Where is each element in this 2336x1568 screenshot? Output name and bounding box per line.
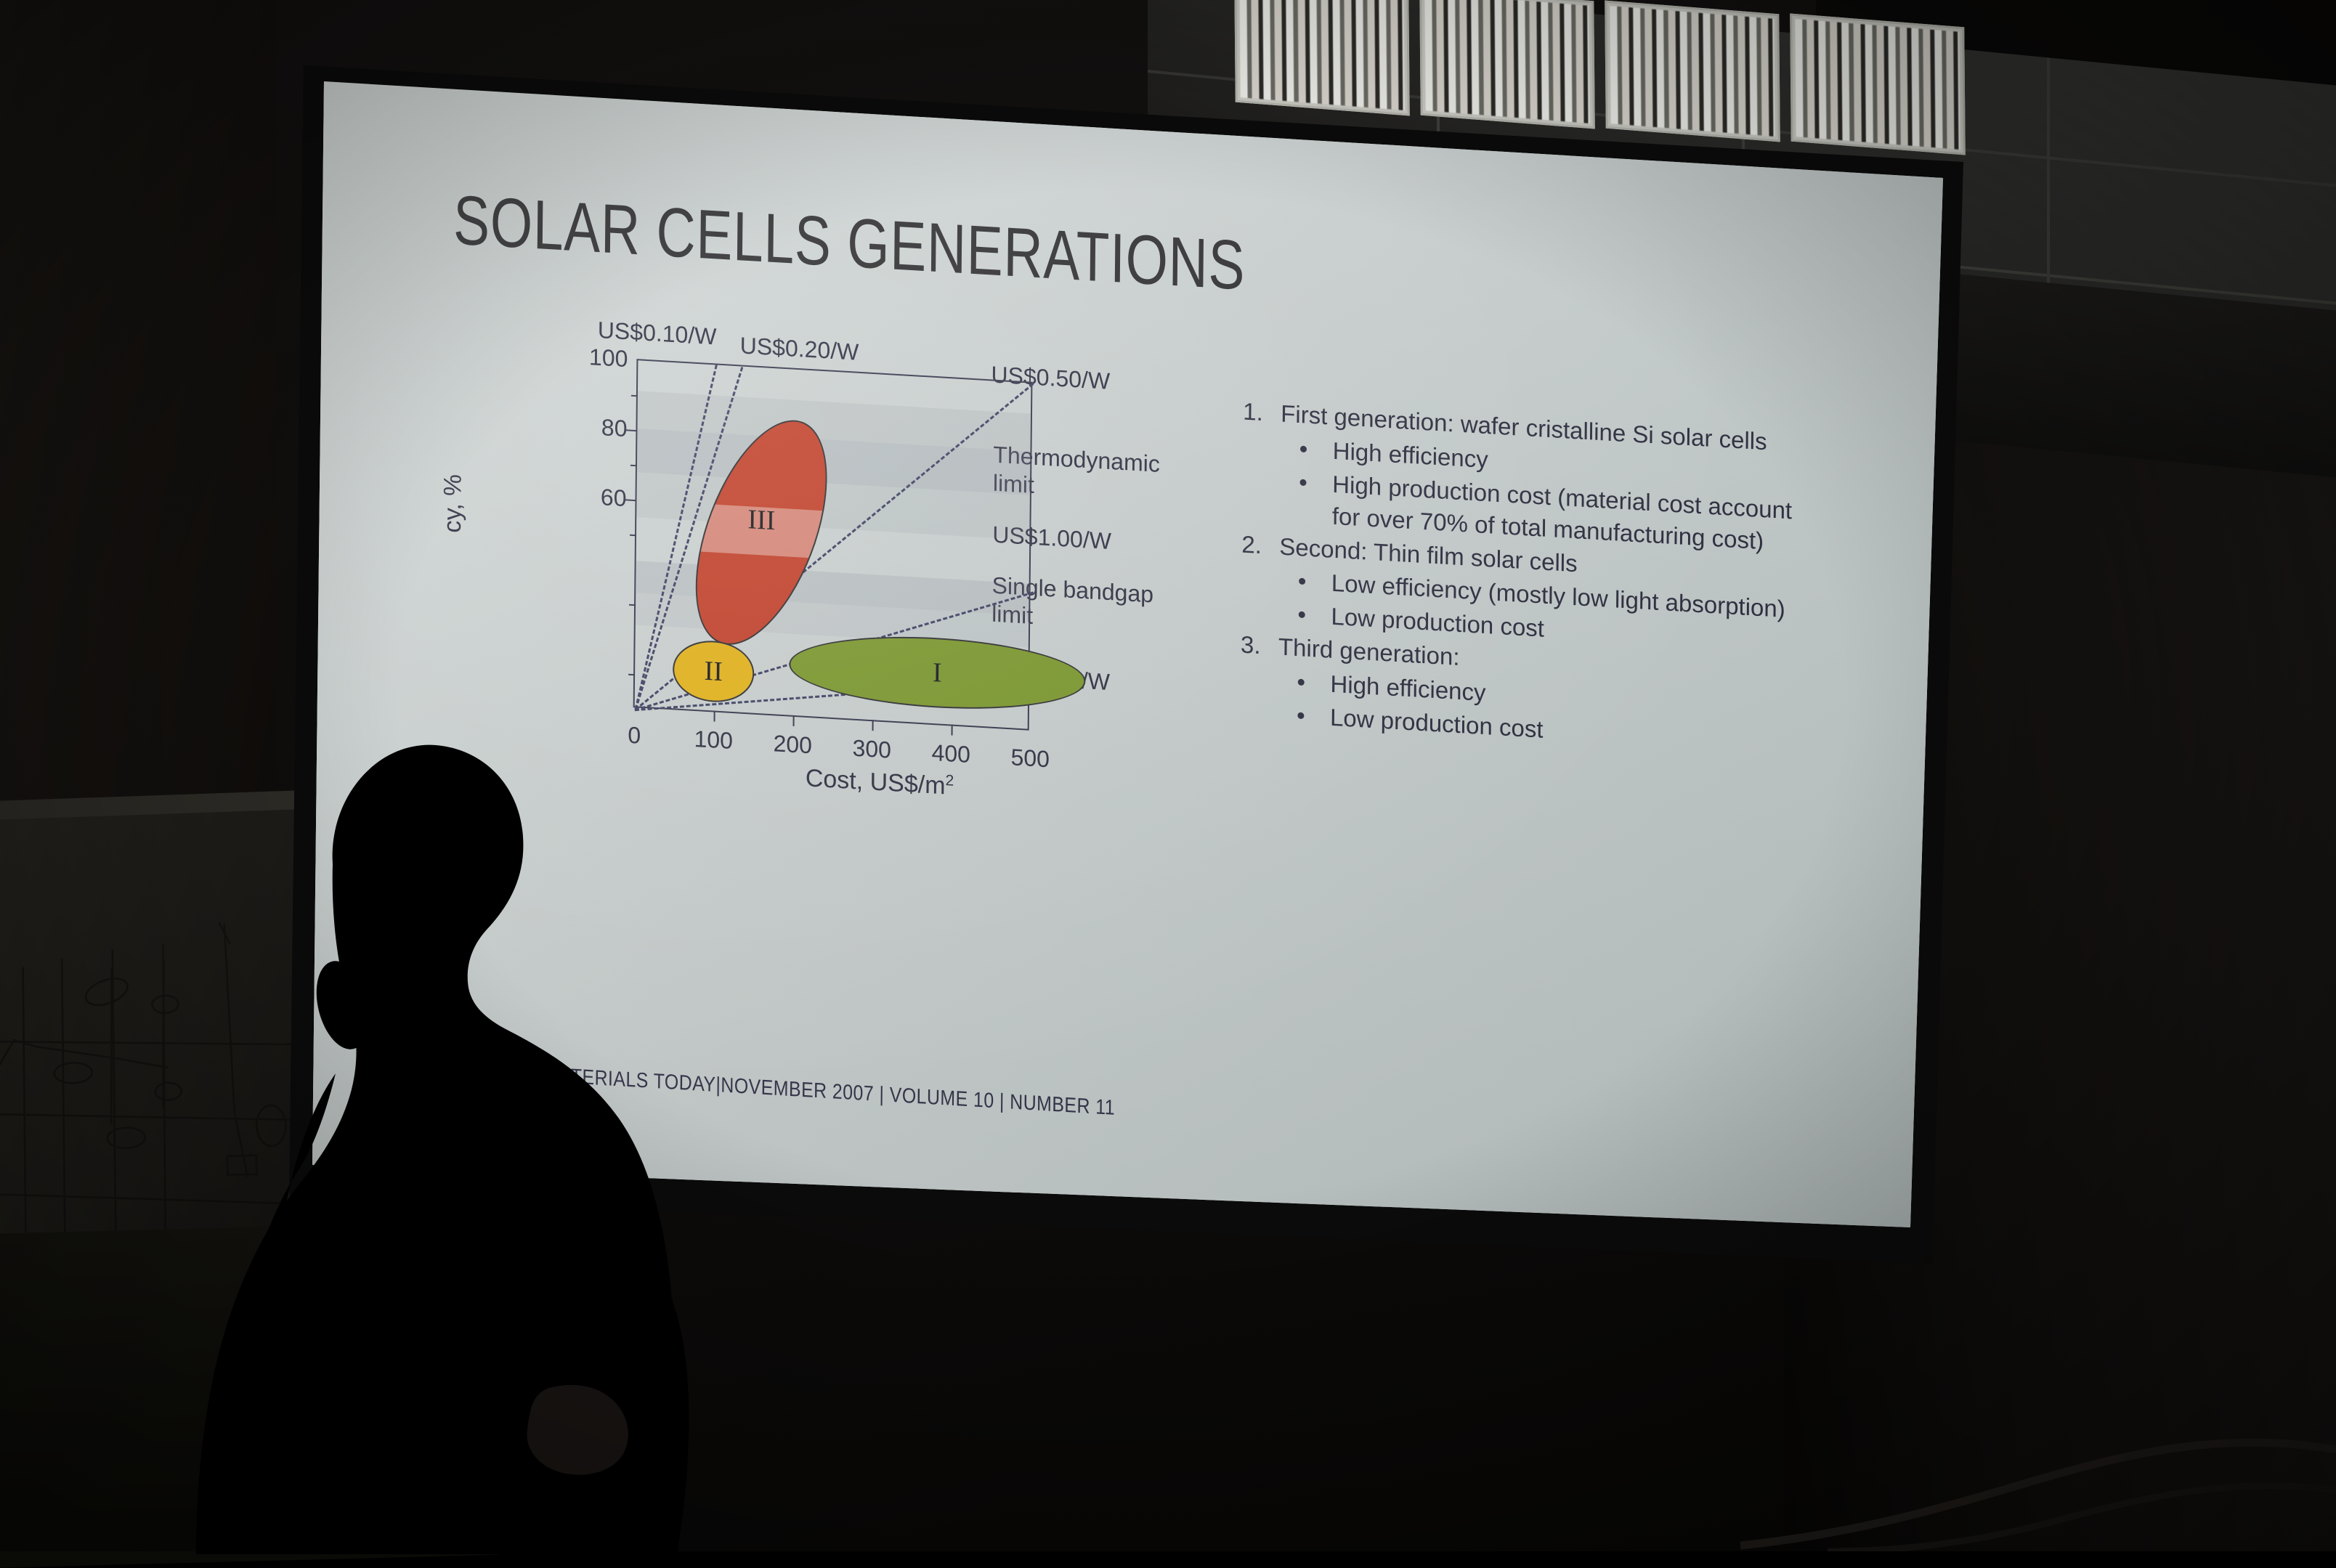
- fluorescent-light-icon: [1605, 0, 1780, 142]
- bullet-list: 1. First generation: wafer cristalline S…: [1240, 396, 1825, 763]
- generation-two-label: II: [704, 655, 723, 688]
- bullet-icon: •: [1297, 598, 1331, 633]
- bullet-icon: •: [1297, 699, 1330, 734]
- x-tick-label: 200: [773, 730, 812, 759]
- plot-area: 100 80 60 0 100 200 300 400 500: [633, 359, 1033, 731]
- presenter-silhouette: [145, 712, 712, 1554]
- generation-three-label: III: [747, 503, 775, 537]
- floor-cable: [1464, 1362, 2336, 1551]
- list-number: 3.: [1241, 629, 1278, 663]
- bullet-icon: •: [1298, 565, 1331, 599]
- x-tick-label: 400: [931, 739, 970, 768]
- slide-title: SOLAR CELLS GENERATIONS: [453, 180, 1246, 306]
- cost-line-label-020: US$0.20/W: [740, 331, 859, 367]
- generation-one-label: I: [933, 657, 942, 689]
- fluorescent-light-icon: [1234, 0, 1410, 116]
- fluorescent-light-icon: [1419, 0, 1595, 129]
- x-tick-label: 500: [1010, 744, 1050, 773]
- x-axis-title: Cost, US$/m2: [806, 764, 954, 801]
- bullet-icon: •: [1297, 666, 1330, 700]
- x-tick-label: 300: [852, 735, 891, 764]
- bullet-icon: •: [1299, 466, 1333, 532]
- list-number: 2.: [1241, 528, 1279, 562]
- y-tick-label: 80: [601, 414, 628, 442]
- list-number: 1.: [1243, 396, 1281, 430]
- bullet-icon: •: [1299, 433, 1333, 467]
- y-tick-label: 60: [601, 484, 627, 512]
- y-axis-title: cy, %: [439, 474, 468, 534]
- lecture-room: SOLAR CELLS GENERATIONS US$0.10/W US$0.2…: [0, 0, 2336, 1551]
- fluorescent-light-icon: [1790, 13, 1966, 155]
- y-tick-label: 100: [589, 344, 628, 373]
